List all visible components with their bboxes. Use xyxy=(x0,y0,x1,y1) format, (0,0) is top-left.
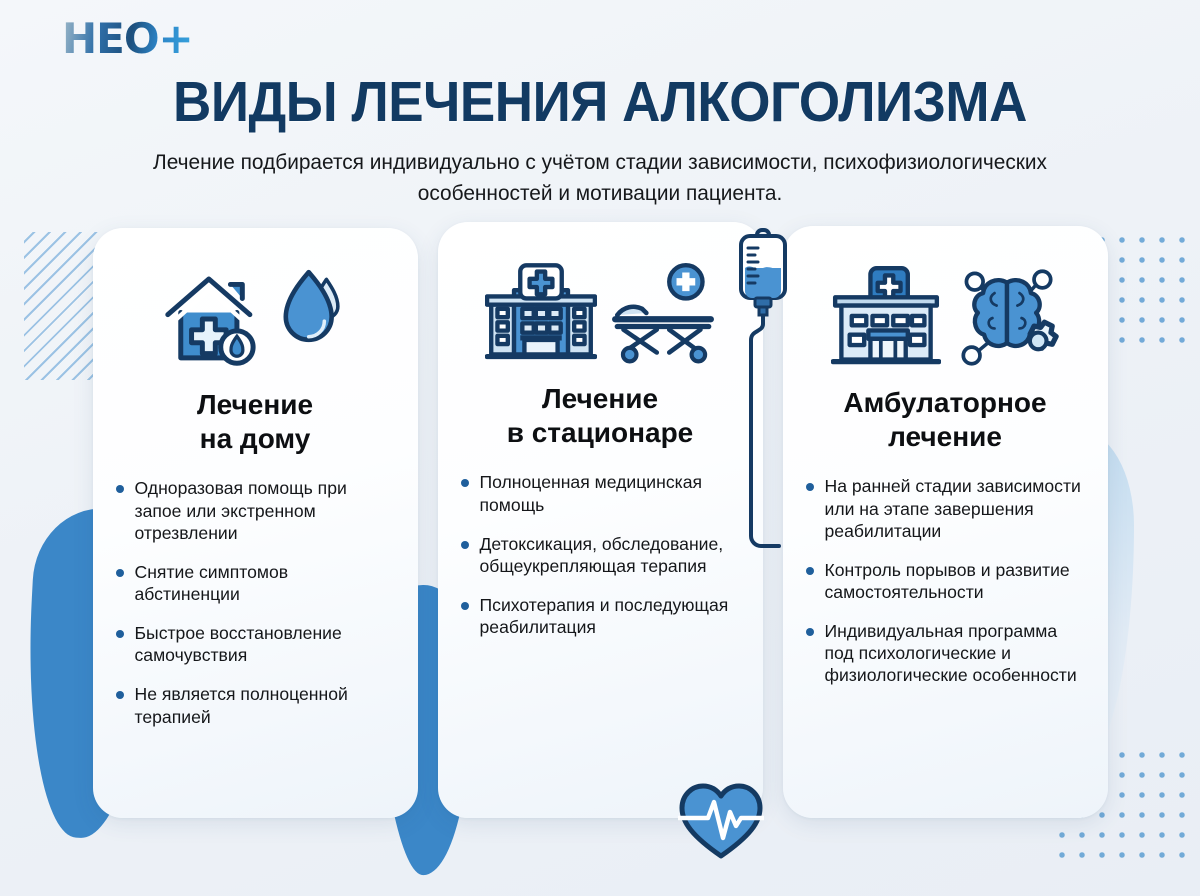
list-item: Быстрое восстановление самочувствия xyxy=(115,622,396,666)
card-outpatient-bullets: На ранней стадии зависимости или на этап… xyxy=(805,475,1086,686)
hospital-building-icon xyxy=(485,261,597,365)
list-item: Одноразовая помощь при запое или экстрен… xyxy=(115,477,396,543)
list-item: Полноценная медицинская помощь xyxy=(460,471,741,515)
list-item: Снятие симптомов абстиненции xyxy=(115,561,396,605)
list-item: Индивидуальная программа под психологиче… xyxy=(805,620,1086,686)
list-item: На ранней стадии зависимости или на этап… xyxy=(805,475,1086,541)
card-inpatient-bullets: Полноценная медицинская помощь Детоксика… xyxy=(460,471,741,638)
card-outpatient-title: Амбулаторное лечение xyxy=(805,386,1086,453)
home-medical-icon xyxy=(157,265,265,373)
list-item: Не является полноценной терапией xyxy=(115,683,396,727)
brain-gear-icon xyxy=(955,266,1059,368)
card-outpatient-treatment[interactable]: Амбулаторное лечение На ранней стадии за… xyxy=(783,226,1108,818)
treatment-cards-row: Лечение на дому Одноразовая помощь при з… xyxy=(0,208,1200,818)
iv-drip-icon xyxy=(735,228,791,558)
card-home-treatment[interactable]: Лечение на дому Одноразовая помощь при з… xyxy=(93,228,418,818)
page-header: НЕО+ ВИДЫ ЛЕЧЕНИЯ АЛКОГОЛИЗМА Лечение по… xyxy=(0,0,1200,208)
card-inpatient-treatment[interactable]: Лечение в стационаре Полноценная медицин… xyxy=(438,222,763,818)
page-title: ВИДЫ ЛЕЧЕНИЯ АЛКОГОЛИЗМА xyxy=(42,63,1158,131)
card-inpatient-icons xyxy=(460,248,741,378)
page-subtitle: Лечение подбирается индивидуально с учёт… xyxy=(110,147,1090,208)
list-item: Детоксикация, обследование, общеукрепляю… xyxy=(460,533,741,577)
card-home-icons xyxy=(115,254,396,384)
hospital-bed-icon xyxy=(611,261,715,365)
card-outpatient-icons xyxy=(805,252,1086,382)
card-home-bullets: Одноразовая помощь при запое или экстрен… xyxy=(115,477,396,727)
card-inpatient-title: Лечение в стационаре xyxy=(460,382,741,449)
list-item: Психотерапия и последующая реабилитация xyxy=(460,594,741,638)
brand-logo[interactable]: НЕО+ xyxy=(62,14,193,63)
card-home-title: Лечение на дому xyxy=(115,388,396,455)
list-item: Контроль порывов и развитие самостоятель… xyxy=(805,559,1086,603)
water-drop-icon xyxy=(279,269,353,369)
clinic-building-icon xyxy=(831,266,941,368)
heart-pulse-icon xyxy=(678,782,764,862)
